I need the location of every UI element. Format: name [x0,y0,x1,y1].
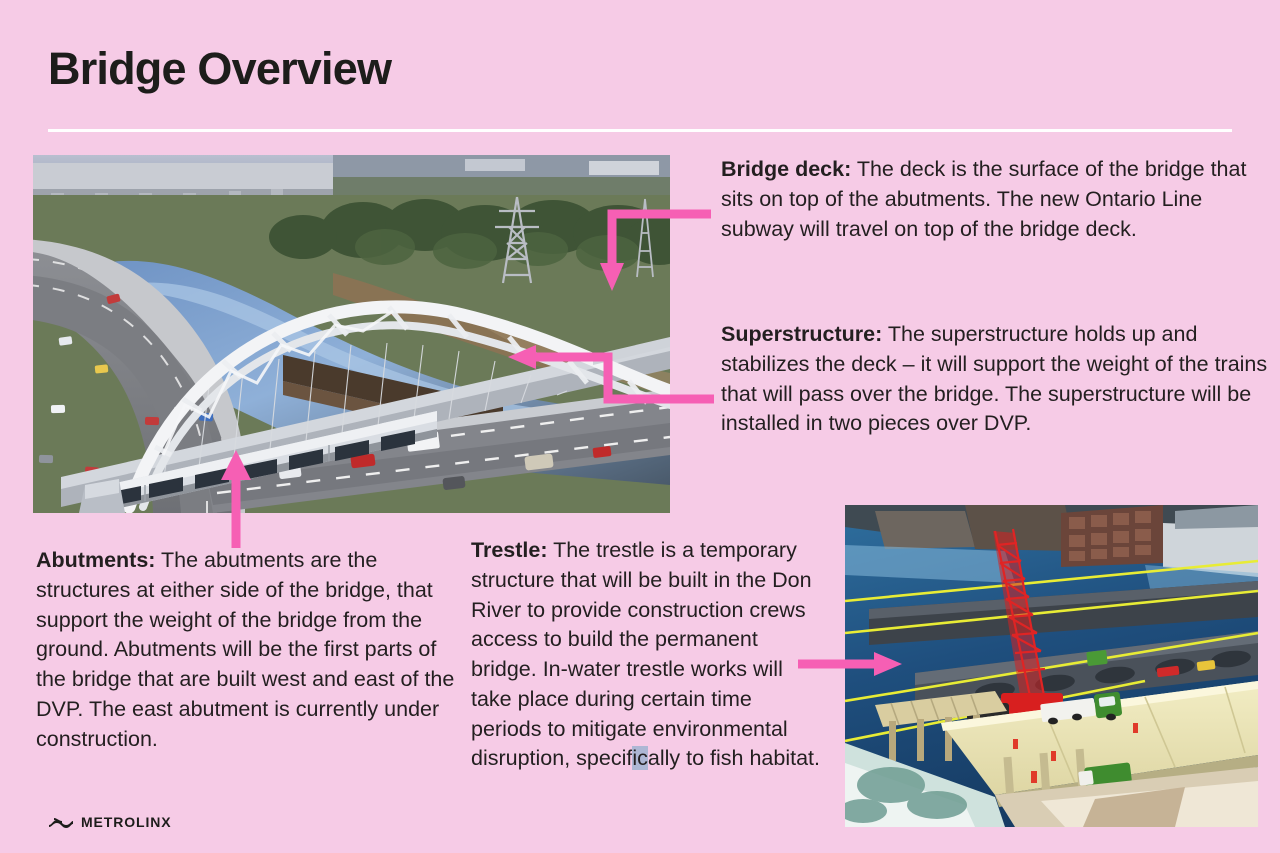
abutments-body: The abutments are the structures at eith… [36,548,454,751]
metrolinx-logo: METROLINX [48,814,172,830]
trestle-label: Trestle: [471,538,547,562]
trestle-rendering-image [845,505,1258,827]
abutments-arrow-icon [218,448,254,548]
bridge-deck-label: Bridge deck: [721,157,851,181]
trestle-body-start: The trestle is a temporary structure tha… [471,538,812,770]
abutments-label: Abutments: [36,548,155,572]
superstructure-arrow-icon [500,345,715,410]
metrolinx-wordmark: METROLINX [81,814,172,830]
page-title: Bridge Overview [48,44,391,94]
trestle-text-selection: ic [632,746,648,770]
slide-root: Bridge Overview [0,0,1280,853]
bridge-rendering-image [33,155,670,513]
title-divider [48,129,1232,132]
bridge-deck-arrow-icon [598,205,713,295]
abutments-text-block: Abutments: The abutments are the structu… [36,546,456,754]
metrolinx-mark-icon [48,816,74,829]
trestle-body-end: ally to fish habitat. [648,746,820,770]
bridge-deck-text-block: Bridge deck: The deck is the surface of … [721,155,1269,244]
trestle-text-block: Trestle: The trestle is a temporary stru… [471,536,826,774]
superstructure-label: Superstructure: [721,322,882,346]
superstructure-text-block: Superstructure: The superstructure holds… [721,320,1273,439]
